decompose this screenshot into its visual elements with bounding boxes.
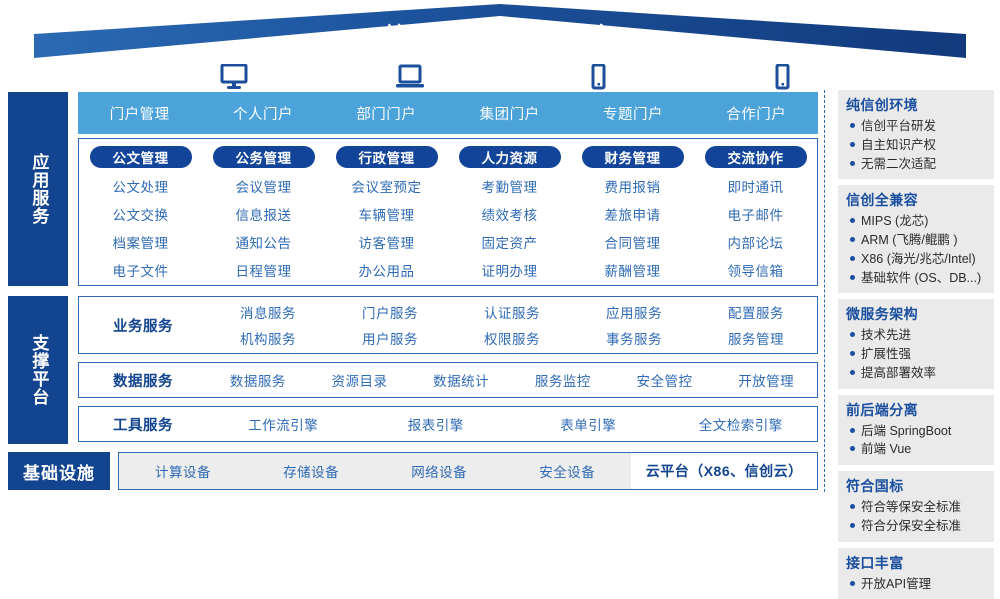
feature-item-1-2: X86 (海光/兆芯/Intel) bbox=[846, 250, 990, 269]
app-column-5: 交流协作 即时通讯 电子邮件 内部论坛 领导信箱 bbox=[694, 139, 817, 285]
feature-group-1-title: 信创全兼容 bbox=[846, 190, 990, 210]
tool-services-row: 工具服务 工作流引擎 报表引擎 表单引擎 全文检索引擎 bbox=[78, 406, 818, 442]
business-cell-3-0[interactable]: 应用服务 bbox=[606, 302, 662, 322]
bullet-dot-icon bbox=[850, 428, 855, 433]
app-item-5-1[interactable]: 电子邮件 bbox=[728, 204, 784, 224]
app-column-5-title[interactable]: 交流协作 bbox=[705, 146, 807, 168]
business-cell-3-1[interactable]: 事务服务 bbox=[606, 328, 662, 348]
app-column-2-title[interactable]: 行政管理 bbox=[336, 146, 438, 168]
portal-bar: 门户管理 个人门户 部门门户 集团门户 专题门户 合作门户 bbox=[78, 92, 818, 134]
rail-infrastructure: 基础设施 bbox=[8, 452, 110, 490]
bullet-dot-icon bbox=[850, 237, 855, 242]
app-item-3-1[interactable]: 绩效考核 bbox=[482, 204, 538, 224]
app-item-4-0[interactable]: 费用报销 bbox=[605, 176, 661, 196]
app-item-4-1[interactable]: 差旅申请 bbox=[605, 204, 661, 224]
bullet-dot-icon bbox=[850, 218, 855, 223]
feature-item-2-1: 扩展性强 bbox=[846, 345, 990, 364]
feature-item-3-1: 前端 Vue bbox=[846, 440, 990, 459]
business-column-4: 配置服务 服务管理 bbox=[695, 302, 817, 348]
rail-application-services-label: 应用服务 bbox=[26, 153, 51, 225]
feature-item-1-3: 基础软件 (OS、DB...) bbox=[846, 269, 990, 288]
tool-service-item-1[interactable]: 报表引擎 bbox=[360, 414, 513, 434]
rail-infrastructure-label: 基础设施 bbox=[23, 459, 95, 484]
data-service-item-0[interactable]: 数据服务 bbox=[207, 370, 309, 390]
business-column-3: 应用服务 事务服务 bbox=[573, 302, 695, 348]
data-service-item-5[interactable]: 开放管理 bbox=[715, 370, 817, 390]
infrastructure-item-2[interactable]: 网络设备 bbox=[375, 453, 503, 489]
feature-item-0-2: 无需二次适配 bbox=[846, 155, 990, 174]
feature-item-2-2: 提高部署效率 bbox=[846, 364, 990, 383]
business-services-label: 业务服务 bbox=[79, 315, 207, 336]
tablet-icon bbox=[766, 64, 800, 90]
business-column-2: 认证服务 权限服务 bbox=[451, 302, 573, 348]
feature-group-4-title: 符合国标 bbox=[846, 476, 990, 496]
title-banner: 神州信息协同办公平台 bbox=[0, 0, 1000, 62]
business-cell-4-1[interactable]: 服务管理 bbox=[728, 328, 784, 348]
portal-item-0[interactable]: 门户管理 bbox=[78, 103, 201, 124]
bullet-dot-icon bbox=[850, 504, 855, 509]
app-item-2-1[interactable]: 车辆管理 bbox=[359, 204, 415, 224]
app-item-0-3[interactable]: 电子文件 bbox=[113, 260, 169, 280]
rail-application-services: 应用服务 bbox=[8, 92, 68, 286]
app-column-4-title[interactable]: 财务管理 bbox=[582, 146, 684, 168]
business-cell-0-1[interactable]: 机构服务 bbox=[240, 328, 296, 348]
data-services-items: 数据服务 资源目录 数据统计 服务监控 安全管控 开放管理 bbox=[207, 370, 817, 390]
feature-group-3: 前后端分离 后端 SpringBoot 前端 Vue bbox=[838, 395, 994, 466]
business-services-grid: 消息服务 机构服务 门户服务 用户服务 认证服务 权限服务 应用服务 事务服务 … bbox=[207, 302, 817, 348]
feature-group-5-title: 接口丰富 bbox=[846, 553, 990, 573]
app-column-3-title[interactable]: 人力资源 bbox=[459, 146, 561, 168]
app-item-2-2[interactable]: 访客管理 bbox=[359, 232, 415, 252]
tool-services-items: 工作流引擎 报表引擎 表单引擎 全文检索引擎 bbox=[207, 414, 817, 434]
feature-group-5: 接口丰富 开放API管理 bbox=[838, 548, 994, 599]
data-service-item-2[interactable]: 数据统计 bbox=[410, 370, 512, 390]
infrastructure-item-0[interactable]: 计算设备 bbox=[119, 453, 247, 489]
architecture-diagram: 神州信息协同办公平台 bbox=[0, 0, 1000, 500]
bullet-dot-icon bbox=[850, 523, 855, 528]
bullet-dot-icon bbox=[850, 275, 855, 280]
bullet-dot-icon bbox=[850, 332, 855, 337]
portal-item-4[interactable]: 专题门户 bbox=[571, 103, 694, 124]
feature-item-2-0: 技术先进 bbox=[846, 326, 990, 345]
business-cell-1-0[interactable]: 门户服务 bbox=[362, 302, 418, 322]
feature-group-1: 信创全兼容 MIPS (龙芯) ARM (飞腾/鲲鹏 ) X86 (海光/兆芯/… bbox=[838, 185, 994, 293]
feature-group-4: 符合国标 符合等保安全标准 符合分保安全标准 bbox=[838, 471, 994, 542]
portal-item-3[interactable]: 集团门户 bbox=[448, 103, 571, 124]
feature-item-1-0: MIPS (龙芯) bbox=[846, 212, 990, 231]
app-column-1-title[interactable]: 公务管理 bbox=[213, 146, 315, 168]
bullet-dot-icon bbox=[850, 446, 855, 451]
app-item-1-0[interactable]: 会议管理 bbox=[236, 176, 292, 196]
app-item-1-3[interactable]: 日程管理 bbox=[236, 260, 292, 280]
app-item-3-2[interactable]: 固定资产 bbox=[482, 232, 538, 252]
app-column-0: 公文管理 公文处理 公文交换 档案管理 电子文件 bbox=[79, 139, 202, 285]
business-cell-2-1[interactable]: 权限服务 bbox=[484, 328, 540, 348]
app-item-0-2[interactable]: 档案管理 bbox=[113, 232, 169, 252]
business-cell-2-0[interactable]: 认证服务 bbox=[484, 302, 540, 322]
feature-item-1-1: ARM (飞腾/鲲鹏 ) bbox=[846, 231, 990, 250]
business-column-0: 消息服务 机构服务 bbox=[207, 302, 329, 348]
app-item-1-1[interactable]: 信息报送 bbox=[236, 204, 292, 224]
infrastructure-cloud-platform[interactable]: 云平台（X86、信创云） bbox=[631, 453, 817, 489]
app-item-3-3[interactable]: 证明办理 bbox=[482, 260, 538, 280]
portal-item-2[interactable]: 部门门户 bbox=[325, 103, 448, 124]
feature-item-5-0: 开放API管理 bbox=[846, 575, 990, 594]
app-item-5-0[interactable]: 即时通讯 bbox=[728, 176, 784, 196]
tool-service-item-0[interactable]: 工作流引擎 bbox=[207, 414, 360, 434]
app-column-4: 财务管理 费用报销 差旅申请 合同管理 薪酬管理 bbox=[571, 139, 694, 285]
business-services-row: 业务服务 消息服务 机构服务 门户服务 用户服务 认证服务 权限服务 应用服务 … bbox=[78, 296, 818, 354]
feature-group-2: 微服务架构 技术先进 扩展性强 提高部署效率 bbox=[838, 299, 994, 388]
feature-group-0: 纯信创环境 信创平台研发 自主知识产权 无需二次适配 bbox=[838, 90, 994, 179]
infrastructure-item-3[interactable]: 安全设备 bbox=[503, 453, 631, 489]
data-service-item-4[interactable]: 安全管控 bbox=[614, 370, 716, 390]
portal-item-1[interactable]: 个人门户 bbox=[201, 103, 324, 124]
app-item-4-3[interactable]: 薪酬管理 bbox=[605, 260, 661, 280]
business-cell-0-0[interactable]: 消息服务 bbox=[240, 302, 296, 322]
app-column-1: 公务管理 会议管理 信息报送 通知公告 日程管理 bbox=[202, 139, 325, 285]
infrastructure-item-1[interactable]: 存储设备 bbox=[247, 453, 375, 489]
app-item-5-2[interactable]: 内部论坛 bbox=[728, 232, 784, 252]
app-item-1-2[interactable]: 通知公告 bbox=[236, 232, 292, 252]
device-icon-strip bbox=[78, 62, 818, 90]
bullet-dot-icon bbox=[850, 123, 855, 128]
feature-side-panel: 纯信创环境 信创平台研发 自主知识产权 无需二次适配 信创全兼容 MIPS (龙… bbox=[838, 90, 994, 492]
tool-service-item-2[interactable]: 表单引擎 bbox=[512, 414, 665, 434]
data-service-item-3[interactable]: 服务监控 bbox=[512, 370, 614, 390]
bullet-dot-icon bbox=[850, 581, 855, 586]
app-column-2: 行政管理 会议室预定 车辆管理 访客管理 办公用品 bbox=[325, 139, 448, 285]
app-item-3-0[interactable]: 考勤管理 bbox=[482, 176, 538, 196]
portal-item-5[interactable]: 合作门户 bbox=[695, 103, 818, 124]
business-cell-4-0[interactable]: 配置服务 bbox=[728, 302, 784, 322]
app-column-0-title[interactable]: 公文管理 bbox=[90, 146, 192, 168]
application-services-card: 公文管理 公文处理 公文交换 档案管理 电子文件 公务管理 会议管理 信息报送 … bbox=[78, 138, 818, 286]
bullet-dot-icon bbox=[850, 161, 855, 166]
app-column-3: 人力资源 考勤管理 绩效考核 固定资产 证明办理 bbox=[448, 139, 571, 285]
feature-item-3-0: 后端 SpringBoot bbox=[846, 422, 990, 441]
rail-support-platform-label: 支撑平台 bbox=[26, 334, 51, 406]
vertical-dashed-separator bbox=[824, 90, 825, 492]
rail-support-platform: 支撑平台 bbox=[8, 296, 68, 444]
business-cell-1-1[interactable]: 用户服务 bbox=[362, 328, 418, 348]
app-item-2-0[interactable]: 会议室预定 bbox=[352, 176, 422, 196]
bullet-dot-icon bbox=[850, 142, 855, 147]
app-item-2-3[interactable]: 办公用品 bbox=[359, 260, 415, 280]
bullet-dot-icon bbox=[850, 370, 855, 375]
app-item-4-2[interactable]: 合同管理 bbox=[605, 232, 661, 252]
laptop-icon bbox=[394, 64, 428, 90]
business-column-1: 门户服务 用户服务 bbox=[329, 302, 451, 348]
tool-services-label: 工具服务 bbox=[79, 414, 207, 435]
tool-service-item-3[interactable]: 全文检索引擎 bbox=[665, 414, 818, 434]
data-services-label: 数据服务 bbox=[79, 370, 207, 391]
feature-item-0-0: 信创平台研发 bbox=[846, 117, 990, 136]
infrastructure-card: 计算设备 存储设备 网络设备 安全设备 云平台（X86、信创云） bbox=[118, 452, 818, 490]
page-title: 神州信息协同办公平台 bbox=[0, 19, 1000, 49]
smartphone-icon bbox=[582, 64, 616, 90]
desktop-monitor-icon bbox=[218, 64, 252, 90]
feature-group-0-title: 纯信创环境 bbox=[846, 95, 990, 115]
data-services-row: 数据服务 数据服务 资源目录 数据统计 服务监控 安全管控 开放管理 bbox=[78, 362, 818, 398]
app-item-5-3[interactable]: 领导信箱 bbox=[728, 260, 784, 280]
bullet-dot-icon bbox=[850, 351, 855, 356]
feature-item-4-1: 符合分保安全标准 bbox=[846, 517, 990, 536]
feature-group-3-title: 前后端分离 bbox=[846, 400, 990, 420]
data-service-item-1[interactable]: 资源目录 bbox=[309, 370, 411, 390]
app-item-0-0[interactable]: 公文处理 bbox=[113, 176, 169, 196]
bullet-dot-icon bbox=[850, 256, 855, 261]
feature-item-4-0: 符合等保安全标准 bbox=[846, 498, 990, 517]
feature-item-0-1: 自主知识产权 bbox=[846, 136, 990, 155]
app-item-0-1[interactable]: 公文交换 bbox=[113, 204, 169, 224]
feature-group-2-title: 微服务架构 bbox=[846, 304, 990, 324]
